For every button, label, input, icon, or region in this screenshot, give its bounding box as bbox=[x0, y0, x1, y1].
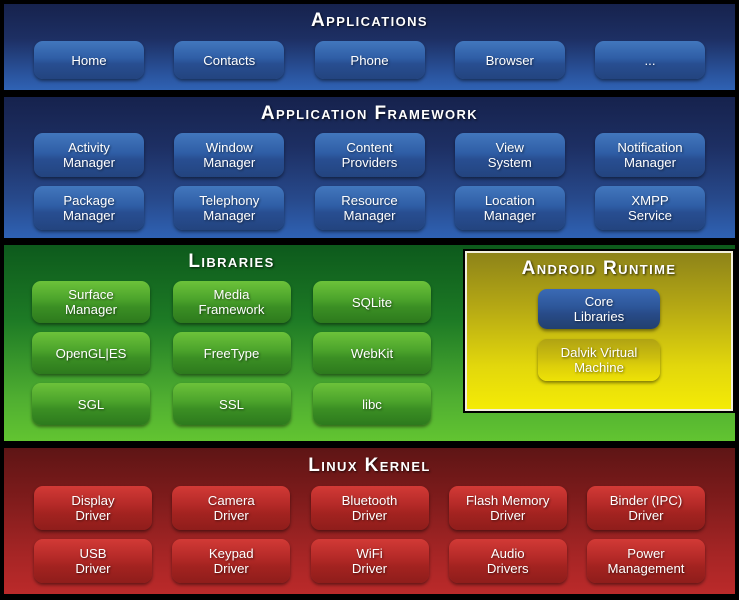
layer-application-framework: Application Framework Activity Manager W… bbox=[2, 95, 737, 240]
framework-box-xmpp-service[interactable]: XMPP Service bbox=[595, 186, 705, 230]
kernel-box-wifi-driver[interactable]: WiFi Driver bbox=[311, 539, 429, 583]
kernel-box-binder-ipc-driver-line1: Binder (IPC) bbox=[610, 493, 683, 508]
library-box-freetype[interactable]: FreeType bbox=[173, 332, 291, 374]
runtime-box-dalvik-virtual-machine-line2: Machine bbox=[574, 360, 624, 375]
kernel-box-camera-driver-line2: Driver bbox=[214, 508, 249, 523]
kernel-box-camera-driver[interactable]: Camera Driver bbox=[172, 486, 290, 530]
framework-box-location-manager-line2: Manager bbox=[484, 208, 536, 223]
library-box-media-framework[interactable]: Media Framework bbox=[173, 281, 291, 323]
framework-box-xmpp-service-line2: Service bbox=[628, 208, 672, 223]
app-box-more[interactable]: ... bbox=[595, 41, 705, 79]
layer-title-libraries: Libraries bbox=[4, 252, 459, 271]
framework-box-location-manager-line1: Location bbox=[485, 193, 535, 208]
kernel-box-bluetooth-driver[interactable]: Bluetooth Driver bbox=[311, 486, 429, 530]
kernel-box-bluetooth-driver-line1: Bluetooth bbox=[342, 493, 398, 508]
framework-box-notification-manager-line1: Notification bbox=[617, 140, 682, 155]
app-box-contacts-label: Contacts bbox=[203, 53, 255, 68]
libraries-row-2: OpenGL|ES FreeType WebKit bbox=[4, 332, 459, 374]
runtime-box-core-libraries[interactable]: Core Libraries bbox=[538, 289, 660, 329]
layer-title-applications: Applications bbox=[4, 11, 735, 30]
library-box-opengl-es-line1: OpenGL|ES bbox=[56, 346, 127, 361]
library-box-media-framework-line2: Framework bbox=[199, 302, 265, 317]
kernel-box-flash-memory-driver-line2: Driver bbox=[490, 508, 525, 523]
runtime-box-dalvik-virtual-machine-line1: Dalvik Virtual bbox=[561, 345, 638, 360]
library-box-webkit-line1: WebKit bbox=[351, 346, 393, 361]
kernel-box-keypad-driver-line2: Driver bbox=[214, 561, 249, 576]
framework-box-content-providers-line2: Providers bbox=[342, 155, 398, 170]
kernel-box-wifi-driver-line2: Driver bbox=[352, 561, 387, 576]
kernel-box-binder-ipc-driver-line2: Driver bbox=[628, 508, 663, 523]
layer-title-android-runtime: Android Runtime bbox=[465, 259, 733, 278]
library-box-webkit[interactable]: WebKit bbox=[313, 332, 431, 374]
kernel-box-display-driver-line1: Display bbox=[71, 493, 114, 508]
library-box-sqlite-line1: SQLite bbox=[352, 295, 392, 310]
framework-box-view-system[interactable]: View System bbox=[455, 133, 565, 177]
framework-box-window-manager-line1: Window bbox=[206, 140, 253, 155]
libraries-row-3: SGL SSL libc bbox=[4, 383, 459, 425]
app-box-phone[interactable]: Phone bbox=[315, 41, 425, 79]
kernel-box-flash-memory-driver[interactable]: Flash Memory Driver bbox=[449, 486, 567, 530]
kernel-box-display-driver[interactable]: Display Driver bbox=[34, 486, 152, 530]
kernel-row-1: Display Driver Camera Driver Bluetooth D… bbox=[4, 486, 735, 530]
android-architecture-diagram: Applications Home Contacts Phone Browser… bbox=[0, 0, 739, 600]
kernel-box-power-management-line2: Management bbox=[608, 561, 685, 576]
framework-box-resource-manager-line1: Resource bbox=[341, 193, 397, 208]
layer-title-application-framework: Application Framework bbox=[4, 104, 735, 123]
framework-box-location-manager[interactable]: Location Manager bbox=[455, 186, 565, 230]
kernel-box-wifi-driver-line1: WiFi bbox=[356, 546, 382, 561]
runtime-box-dalvik-virtual-machine[interactable]: Dalvik Virtual Machine bbox=[538, 339, 660, 381]
framework-box-xmpp-service-line1: XMPP bbox=[631, 193, 668, 208]
kernel-box-audio-drivers-line2: Drivers bbox=[487, 561, 529, 576]
framework-box-notification-manager-line2: Manager bbox=[624, 155, 676, 170]
runtime-box-core-libraries-line1: Core bbox=[585, 294, 614, 309]
framework-box-view-system-line1: View bbox=[496, 140, 524, 155]
app-box-contacts[interactable]: Contacts bbox=[174, 41, 284, 79]
framework-box-package-manager[interactable]: Package Manager bbox=[34, 186, 144, 230]
kernel-box-usb-driver-line2: Driver bbox=[75, 561, 110, 576]
library-box-surface-manager[interactable]: Surface Manager bbox=[32, 281, 150, 323]
kernel-box-audio-drivers-line1: Audio bbox=[491, 546, 525, 561]
framework-row-1: Activity Manager Window Manager Content … bbox=[4, 133, 735, 177]
runtime-box-core-libraries-line2: Libraries bbox=[574, 309, 625, 324]
layer-libraries: Libraries Surface Manager Media Framewor… bbox=[4, 245, 459, 441]
app-box-more-label: ... bbox=[645, 53, 656, 68]
framework-box-package-manager-line1: Package bbox=[63, 193, 114, 208]
framework-box-resource-manager-line2: Manager bbox=[343, 208, 395, 223]
app-box-home[interactable]: Home bbox=[34, 41, 144, 79]
kernel-box-camera-driver-line1: Camera bbox=[208, 493, 255, 508]
runtime-boxes: Core Libraries Dalvik Virtual Machine bbox=[465, 289, 733, 381]
framework-box-telephony-manager-line2: Manager bbox=[203, 208, 255, 223]
framework-box-activity-manager[interactable]: Activity Manager bbox=[34, 133, 144, 177]
library-box-surface-manager-line2: Manager bbox=[65, 302, 117, 317]
framework-box-activity-manager-line2: Manager bbox=[63, 155, 115, 170]
framework-box-window-manager[interactable]: Window Manager bbox=[174, 133, 284, 177]
framework-box-content-providers-line1: Content bbox=[346, 140, 392, 155]
framework-box-telephony-manager-line1: Telephony bbox=[199, 193, 259, 208]
library-box-libc[interactable]: libc bbox=[313, 383, 431, 425]
library-box-ssl-line1: SSL bbox=[219, 397, 244, 412]
app-box-browser[interactable]: Browser bbox=[455, 41, 565, 79]
app-box-phone-label: Phone bbox=[350, 53, 388, 68]
library-box-sgl-line1: SGL bbox=[78, 397, 104, 412]
framework-box-view-system-line2: System bbox=[488, 155, 532, 170]
kernel-row-2: USB Driver Keypad Driver WiFi Driver Aud… bbox=[4, 539, 735, 583]
kernel-box-bluetooth-driver-line2: Driver bbox=[352, 508, 387, 523]
layer-android-runtime: Android Runtime Core Libraries Dalvik Vi… bbox=[463, 249, 735, 413]
applications-row-1: Home Contacts Phone Browser ... bbox=[4, 41, 735, 79]
framework-box-window-manager-line2: Manager bbox=[203, 155, 255, 170]
app-box-home-label: Home bbox=[71, 53, 106, 68]
library-box-libc-line1: libc bbox=[362, 397, 382, 412]
layer-linux-kernel: Linux Kernel Display Driver Camera Drive… bbox=[2, 446, 737, 596]
app-box-browser-label: Browser bbox=[486, 53, 534, 68]
kernel-box-power-management-line1: Power bbox=[627, 546, 664, 561]
framework-box-package-manager-line2: Manager bbox=[63, 208, 115, 223]
kernel-box-usb-driver-line1: USB bbox=[79, 546, 106, 561]
kernel-box-usb-driver[interactable]: USB Driver bbox=[34, 539, 152, 583]
layer-title-linux-kernel: Linux Kernel bbox=[4, 456, 735, 475]
kernel-box-keypad-driver[interactable]: Keypad Driver bbox=[172, 539, 290, 583]
kernel-box-audio-drivers[interactable]: Audio Drivers bbox=[449, 539, 567, 583]
framework-box-notification-manager[interactable]: Notification Manager bbox=[595, 133, 705, 177]
kernel-box-binder-ipc-driver[interactable]: Binder (IPC) Driver bbox=[587, 486, 705, 530]
library-box-media-framework-line1: Media bbox=[214, 287, 250, 302]
library-box-sqlite[interactable]: SQLite bbox=[313, 281, 431, 323]
library-box-ssl[interactable]: SSL bbox=[173, 383, 291, 425]
framework-box-activity-manager-line1: Activity bbox=[68, 140, 110, 155]
framework-box-resource-manager[interactable]: Resource Manager bbox=[315, 186, 425, 230]
library-box-surface-manager-line1: Surface bbox=[68, 287, 113, 302]
library-box-sgl[interactable]: SGL bbox=[32, 383, 150, 425]
libraries-row-1: Surface Manager Media Framework SQLite bbox=[4, 281, 459, 323]
framework-row-2: Package Manager Telephony Manager Resour… bbox=[4, 186, 735, 230]
libraries-rows: Surface Manager Media Framework SQLite O… bbox=[4, 281, 459, 425]
library-box-opengl-es[interactable]: OpenGL|ES bbox=[32, 332, 150, 374]
layer-libraries-and-runtime: Libraries Surface Manager Media Framewor… bbox=[2, 243, 737, 443]
library-box-freetype-line1: FreeType bbox=[204, 346, 260, 361]
framework-box-content-providers[interactable]: Content Providers bbox=[315, 133, 425, 177]
kernel-box-display-driver-line2: Driver bbox=[75, 508, 110, 523]
kernel-box-power-management[interactable]: Power Management bbox=[587, 539, 705, 583]
kernel-box-flash-memory-driver-line1: Flash Memory bbox=[466, 493, 550, 508]
layer-applications: Applications Home Contacts Phone Browser… bbox=[2, 2, 737, 92]
kernel-box-keypad-driver-line1: Keypad bbox=[209, 546, 254, 561]
framework-box-telephony-manager[interactable]: Telephony Manager bbox=[174, 186, 284, 230]
